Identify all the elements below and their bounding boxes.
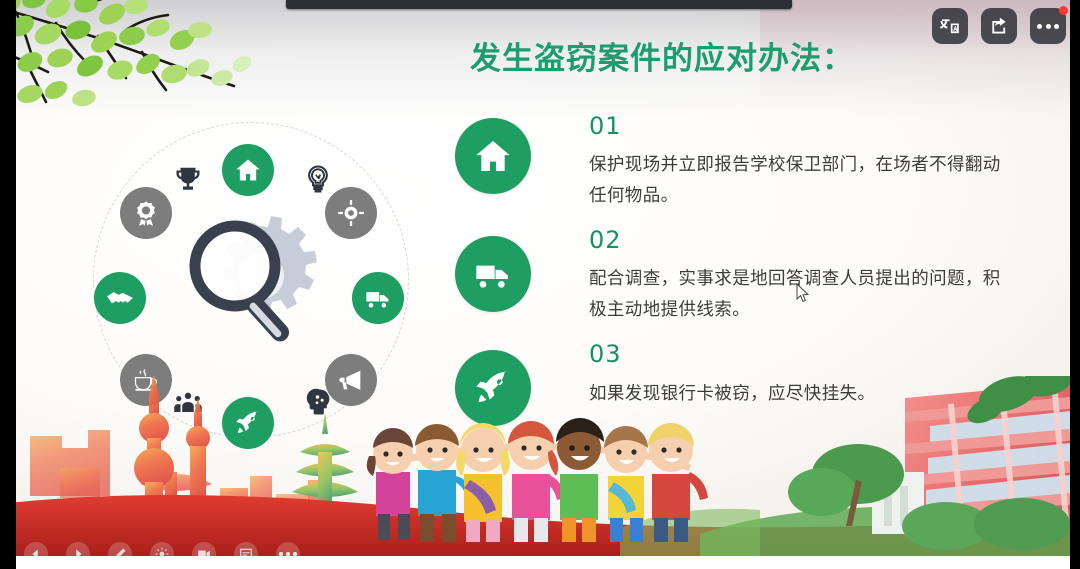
lightbulb-icon-wrap bbox=[301, 162, 335, 196]
trophy-icon-wrap bbox=[171, 162, 205, 196]
video-camera-icon bbox=[197, 547, 211, 561]
player-toolbar bbox=[0, 539, 1080, 569]
more-options-icon bbox=[1037, 24, 1059, 29]
previous-slide-icon bbox=[29, 547, 43, 561]
step-item: 01 保护现场并立即报告学校保卫部门，在场者不得翻动任何物品。 bbox=[455, 112, 1035, 212]
handshake-icon bbox=[106, 284, 134, 312]
target-icon bbox=[337, 199, 365, 227]
step-text-block: 01 保护现场并立即报告学校保卫部门，在场者不得翻动任何物品。 bbox=[589, 112, 1009, 212]
letterbox-left bbox=[0, 0, 16, 569]
lightbulb-icon bbox=[303, 164, 333, 194]
step-description: 如果发现银行卡被窃，应尽快挂失。 bbox=[589, 379, 1009, 410]
steps-list: 01 保护现场并立即报告学校保卫部门，在场者不得翻动任何物品。 02 配合调查，… bbox=[455, 112, 1035, 440]
node-home[interactable] bbox=[222, 144, 274, 196]
slide-title: 发生盗窃案件的应对办法： bbox=[470, 33, 940, 78]
more-options-button[interactable] bbox=[1030, 8, 1066, 44]
more-tools-button[interactable] bbox=[276, 542, 300, 566]
step-number: 02 bbox=[589, 228, 1009, 253]
step-badge-rocket[interactable] bbox=[455, 350, 531, 426]
megaphone-icon bbox=[337, 366, 365, 394]
infographic-circle bbox=[85, 112, 415, 452]
translate-icon bbox=[940, 16, 960, 36]
tree-branch-illustration bbox=[0, 0, 296, 125]
step-badge-home[interactable] bbox=[455, 118, 531, 194]
video-camera-button[interactable] bbox=[192, 542, 216, 566]
notification-badge-dot bbox=[1059, 6, 1068, 15]
rocket-icon bbox=[234, 409, 262, 437]
coffee-icon bbox=[132, 366, 160, 394]
slide-canvas: 发生盗窃案件的应对办法： bbox=[0, 0, 1080, 556]
mouse-cursor bbox=[796, 283, 810, 303]
previous-slide-button[interactable] bbox=[24, 542, 48, 566]
truck-icon bbox=[364, 284, 392, 312]
step-item: 02 配合调查，实事求是地回答调查人员提出的问题，积极主动地提供线索。 bbox=[455, 226, 1035, 326]
more-tools-icon bbox=[279, 552, 297, 556]
share-export-button[interactable] bbox=[981, 8, 1017, 44]
notes-list-button[interactable] bbox=[234, 542, 258, 566]
notes-list-icon bbox=[239, 547, 253, 561]
next-slide-icon bbox=[71, 547, 85, 561]
window-controls bbox=[932, 8, 1066, 44]
step-text-block: 02 配合调查，实事求是地回答调查人员提出的问题，积极主动地提供线索。 bbox=[589, 226, 1009, 326]
people-group-icon bbox=[173, 387, 203, 417]
brain-head-icon-wrap bbox=[301, 385, 335, 419]
node-rocket[interactable] bbox=[222, 397, 274, 449]
home-icon bbox=[473, 136, 513, 176]
brain-head-icon bbox=[303, 387, 333, 417]
step-description: 保护现场并立即报告学校保卫部门，在场者不得翻动任何物品。 bbox=[589, 150, 1009, 212]
laser-pointer-icon bbox=[155, 547, 169, 561]
letterbox-right bbox=[1070, 0, 1080, 569]
node-medal[interactable] bbox=[120, 187, 172, 239]
step-item: 03 如果发现银行卡被窃，应尽快挂失。 bbox=[455, 340, 1035, 426]
trophy-icon bbox=[173, 164, 203, 194]
medal-icon bbox=[132, 199, 160, 227]
home-icon bbox=[234, 156, 262, 184]
rocket-icon bbox=[473, 368, 513, 408]
magnifier-gear-icon bbox=[173, 204, 333, 354]
laser-pointer-button[interactable] bbox=[150, 542, 174, 566]
next-slide-button[interactable] bbox=[66, 542, 90, 566]
node-coffee[interactable] bbox=[120, 354, 172, 406]
people-group-icon-wrap bbox=[171, 385, 205, 419]
node-truck[interactable] bbox=[352, 272, 404, 324]
top-notch-bar bbox=[286, 0, 792, 9]
share-export-icon bbox=[989, 16, 1009, 36]
node-handshake[interactable] bbox=[94, 272, 146, 324]
pen-annotate-icon bbox=[113, 547, 127, 561]
translate-button[interactable] bbox=[932, 8, 968, 44]
presentation-viewer: 发生盗窃案件的应对办法： bbox=[0, 0, 1080, 569]
step-badge-truck[interactable] bbox=[455, 236, 531, 312]
step-number: 03 bbox=[589, 342, 1009, 367]
truck-icon bbox=[473, 254, 513, 294]
step-number: 01 bbox=[589, 114, 1009, 139]
step-text-block: 03 如果发现银行卡被窃，应尽快挂失。 bbox=[589, 340, 1009, 409]
pen-annotate-button[interactable] bbox=[108, 542, 132, 566]
tree-cluster-right bbox=[788, 444, 1070, 550]
